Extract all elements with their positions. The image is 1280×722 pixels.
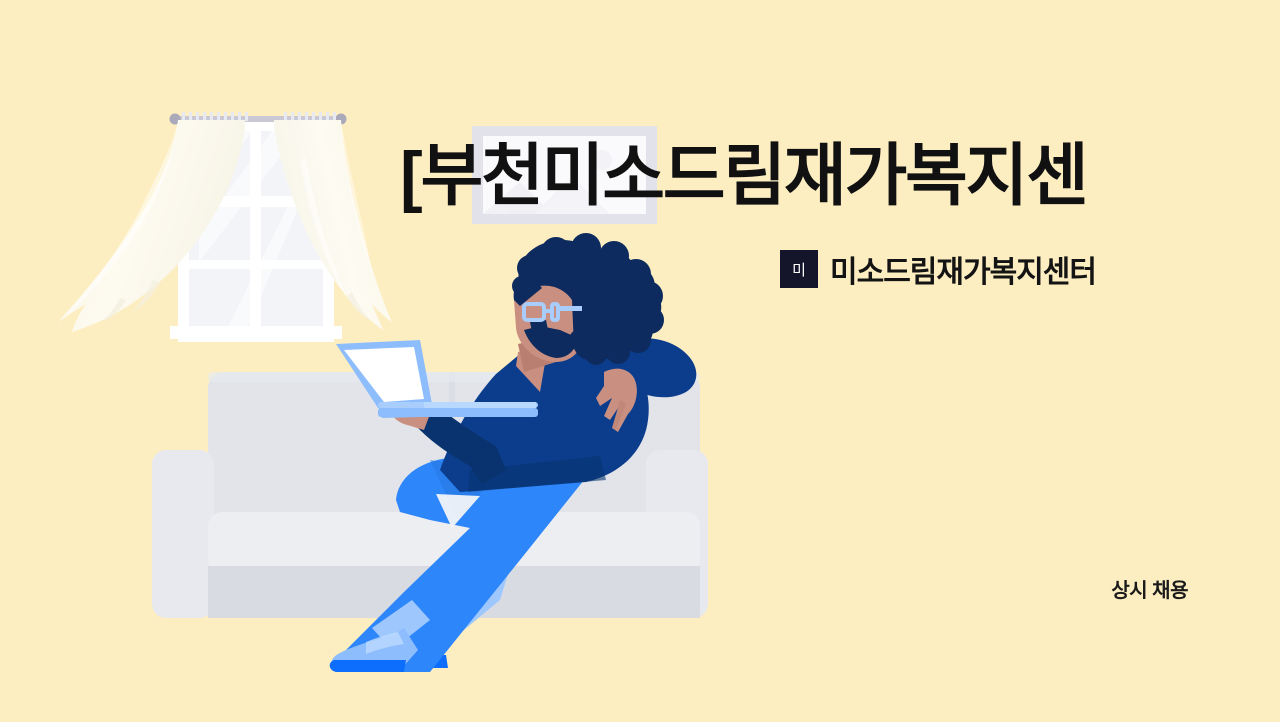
company-row: 미 미소드림재가복지센터 <box>780 250 1096 288</box>
company-name: 미소드림재가복지센터 <box>830 247 1096 291</box>
text-overlay: [부천미소드림재가복지센 미 미소드림재가복지센터 상시 채용 <box>0 0 1280 722</box>
job-posting-poster: [부천미소드림재가복지센 미 미소드림재가복지센터 상시 채용 <box>0 0 1280 722</box>
company-logo-badge: 미 <box>780 250 818 288</box>
page-title: [부천미소드림재가복지센 <box>400 133 1190 219</box>
hiring-status-badge: 상시 채용 <box>1111 574 1188 603</box>
